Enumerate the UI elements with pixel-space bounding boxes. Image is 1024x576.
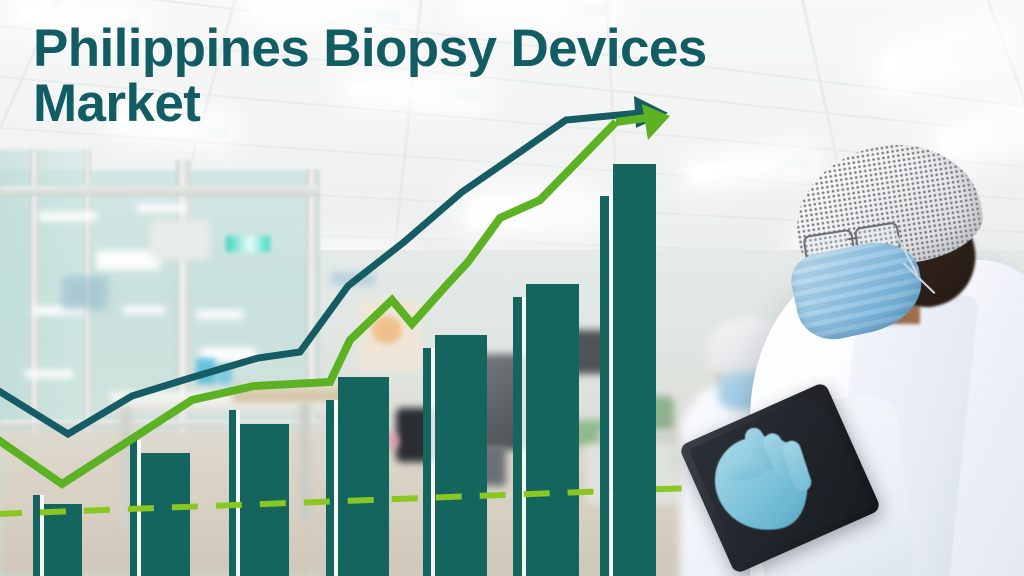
page-title: Philippines Biopsy DevicesMarket [33, 22, 707, 131]
page-title-line-2: Market [33, 74, 200, 133]
bar-thin-8 [600, 196, 609, 576]
green-trend-line [0, 122, 616, 484]
page-title-line-1: Philippines Biopsy Devices [33, 19, 707, 78]
dashed-baseline [0, 488, 690, 514]
marketing-banner: Philippines Biopsy DevicesMarket [0, 0, 1024, 576]
bar-8 [613, 164, 656, 576]
